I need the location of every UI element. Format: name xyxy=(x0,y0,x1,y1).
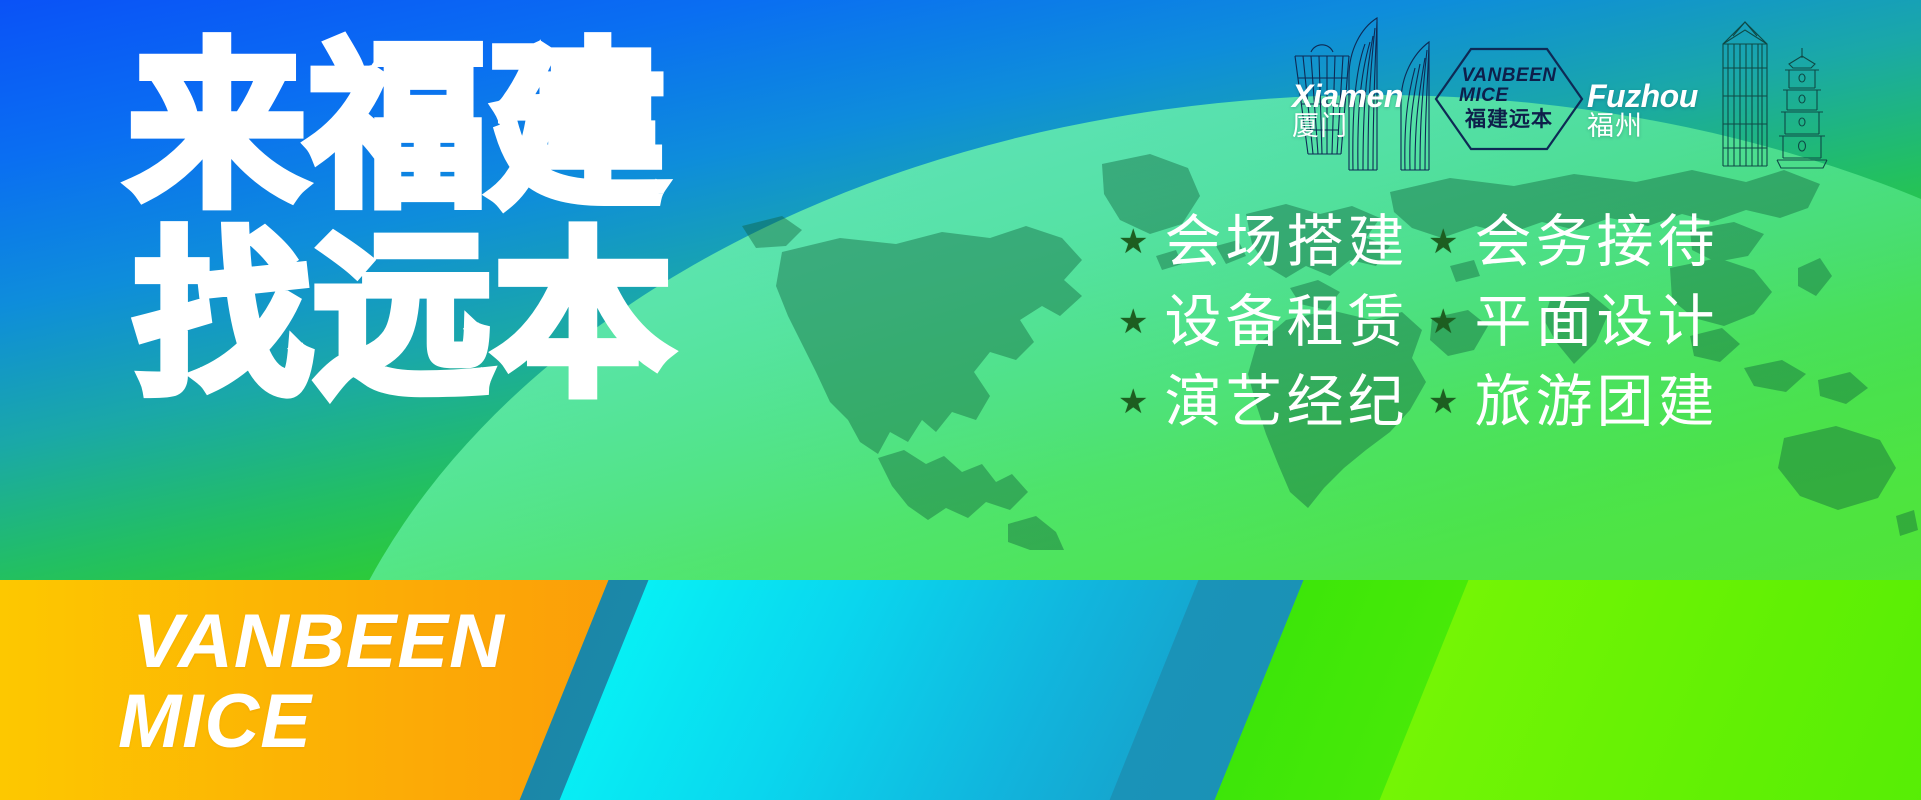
service-label: 会务接待 xyxy=(1474,212,1718,272)
service-label: 平面设计 xyxy=(1474,292,1718,352)
city-label-xiamen: Xiamen 厦门 xyxy=(1292,80,1403,141)
city-name-en: Fuzhou xyxy=(1587,80,1698,112)
service-label: 旅游团建 xyxy=(1474,372,1718,432)
hex-badge-cn: 福建远本 xyxy=(1465,107,1553,132)
hex-badge-en-line-1: VANBEEN xyxy=(1462,66,1557,86)
service-row: ★ 演艺经纪 ★ 旅游团建 xyxy=(1118,372,1738,432)
main-panel: 来福建 找远本 ★ 会场搭建 ★ 会务接待 ★ 设备租赁 xyxy=(0,0,1921,580)
star-icon: ★ xyxy=(1428,305,1458,339)
star-icon: ★ xyxy=(1428,385,1458,419)
service-item-travel-teambuilding: ★ 旅游团建 xyxy=(1428,372,1738,432)
fuzhou-white-pagoda-landmark-icon xyxy=(1771,46,1833,170)
vanbeen-hexagon-badge: VANBEEN MICE 福建远本 xyxy=(1433,46,1585,152)
services-list: ★ 会场搭建 ★ 会务接待 ★ 设备租赁 ★ 平面设计 xyxy=(1118,212,1738,432)
brand-line-1: VANBEEN xyxy=(132,602,505,682)
diagonal-stripe-teal xyxy=(499,580,1180,800)
diagonal-stripe-green-2 xyxy=(1359,580,1921,800)
service-item-equipment-rental: ★ 设备租赁 xyxy=(1118,292,1428,352)
brand-line-2: MICE xyxy=(118,682,505,762)
service-label: 设备租赁 xyxy=(1164,292,1408,352)
service-item-graphic-design: ★ 平面设计 xyxy=(1428,292,1738,352)
city-label-fuzhou: Fuzhou 福州 xyxy=(1587,80,1698,141)
star-icon: ★ xyxy=(1118,305,1148,339)
headline-line-2: 找远本 xyxy=(134,229,674,404)
headline-line-1: 来福建 xyxy=(128,40,674,215)
fuzhou-modern-tower-landmark-icon xyxy=(1715,16,1775,168)
bottom-brand-strip: VANBEEN MICE xyxy=(0,580,1921,800)
service-item-venue-setup: ★ 会场搭建 xyxy=(1118,212,1428,272)
city-name-cn: 厦门 xyxy=(1292,112,1403,141)
city-logo-cluster: Xiamen 厦门 Fuzhou 福州 VANBEEN MICE 福建远本 xyxy=(1295,8,1855,178)
service-row: ★ 会场搭建 ★ 会务接待 xyxy=(1118,212,1738,272)
service-label: 会场搭建 xyxy=(1164,212,1408,272)
diagonal-stripe-teal-2 xyxy=(1089,580,1540,800)
star-icon: ★ xyxy=(1118,225,1148,259)
service-item-conference-reception: ★ 会务接待 xyxy=(1428,212,1738,272)
brand-wordmark: VANBEEN MICE xyxy=(132,602,505,762)
service-label: 演艺经纪 xyxy=(1164,372,1408,432)
city-name-cn: 福州 xyxy=(1587,112,1698,141)
promotional-banner: 来福建 找远本 ★ 会场搭建 ★ 会务接待 ★ 设备租赁 xyxy=(0,0,1921,800)
diagonal-stripe-green-1 xyxy=(1194,580,1555,800)
city-name-en: Xiamen xyxy=(1292,80,1403,112)
hex-badge-en-line-2: MICE xyxy=(1459,86,1509,106)
star-icon: ★ xyxy=(1118,385,1148,419)
diagonal-stripe-cyan xyxy=(539,580,1360,800)
service-row: ★ 设备租赁 ★ 平面设计 xyxy=(1118,292,1738,352)
headline: 来福建 找远本 xyxy=(128,40,674,404)
service-item-performance-agency: ★ 演艺经纪 xyxy=(1118,372,1428,432)
star-icon: ★ xyxy=(1428,225,1458,259)
